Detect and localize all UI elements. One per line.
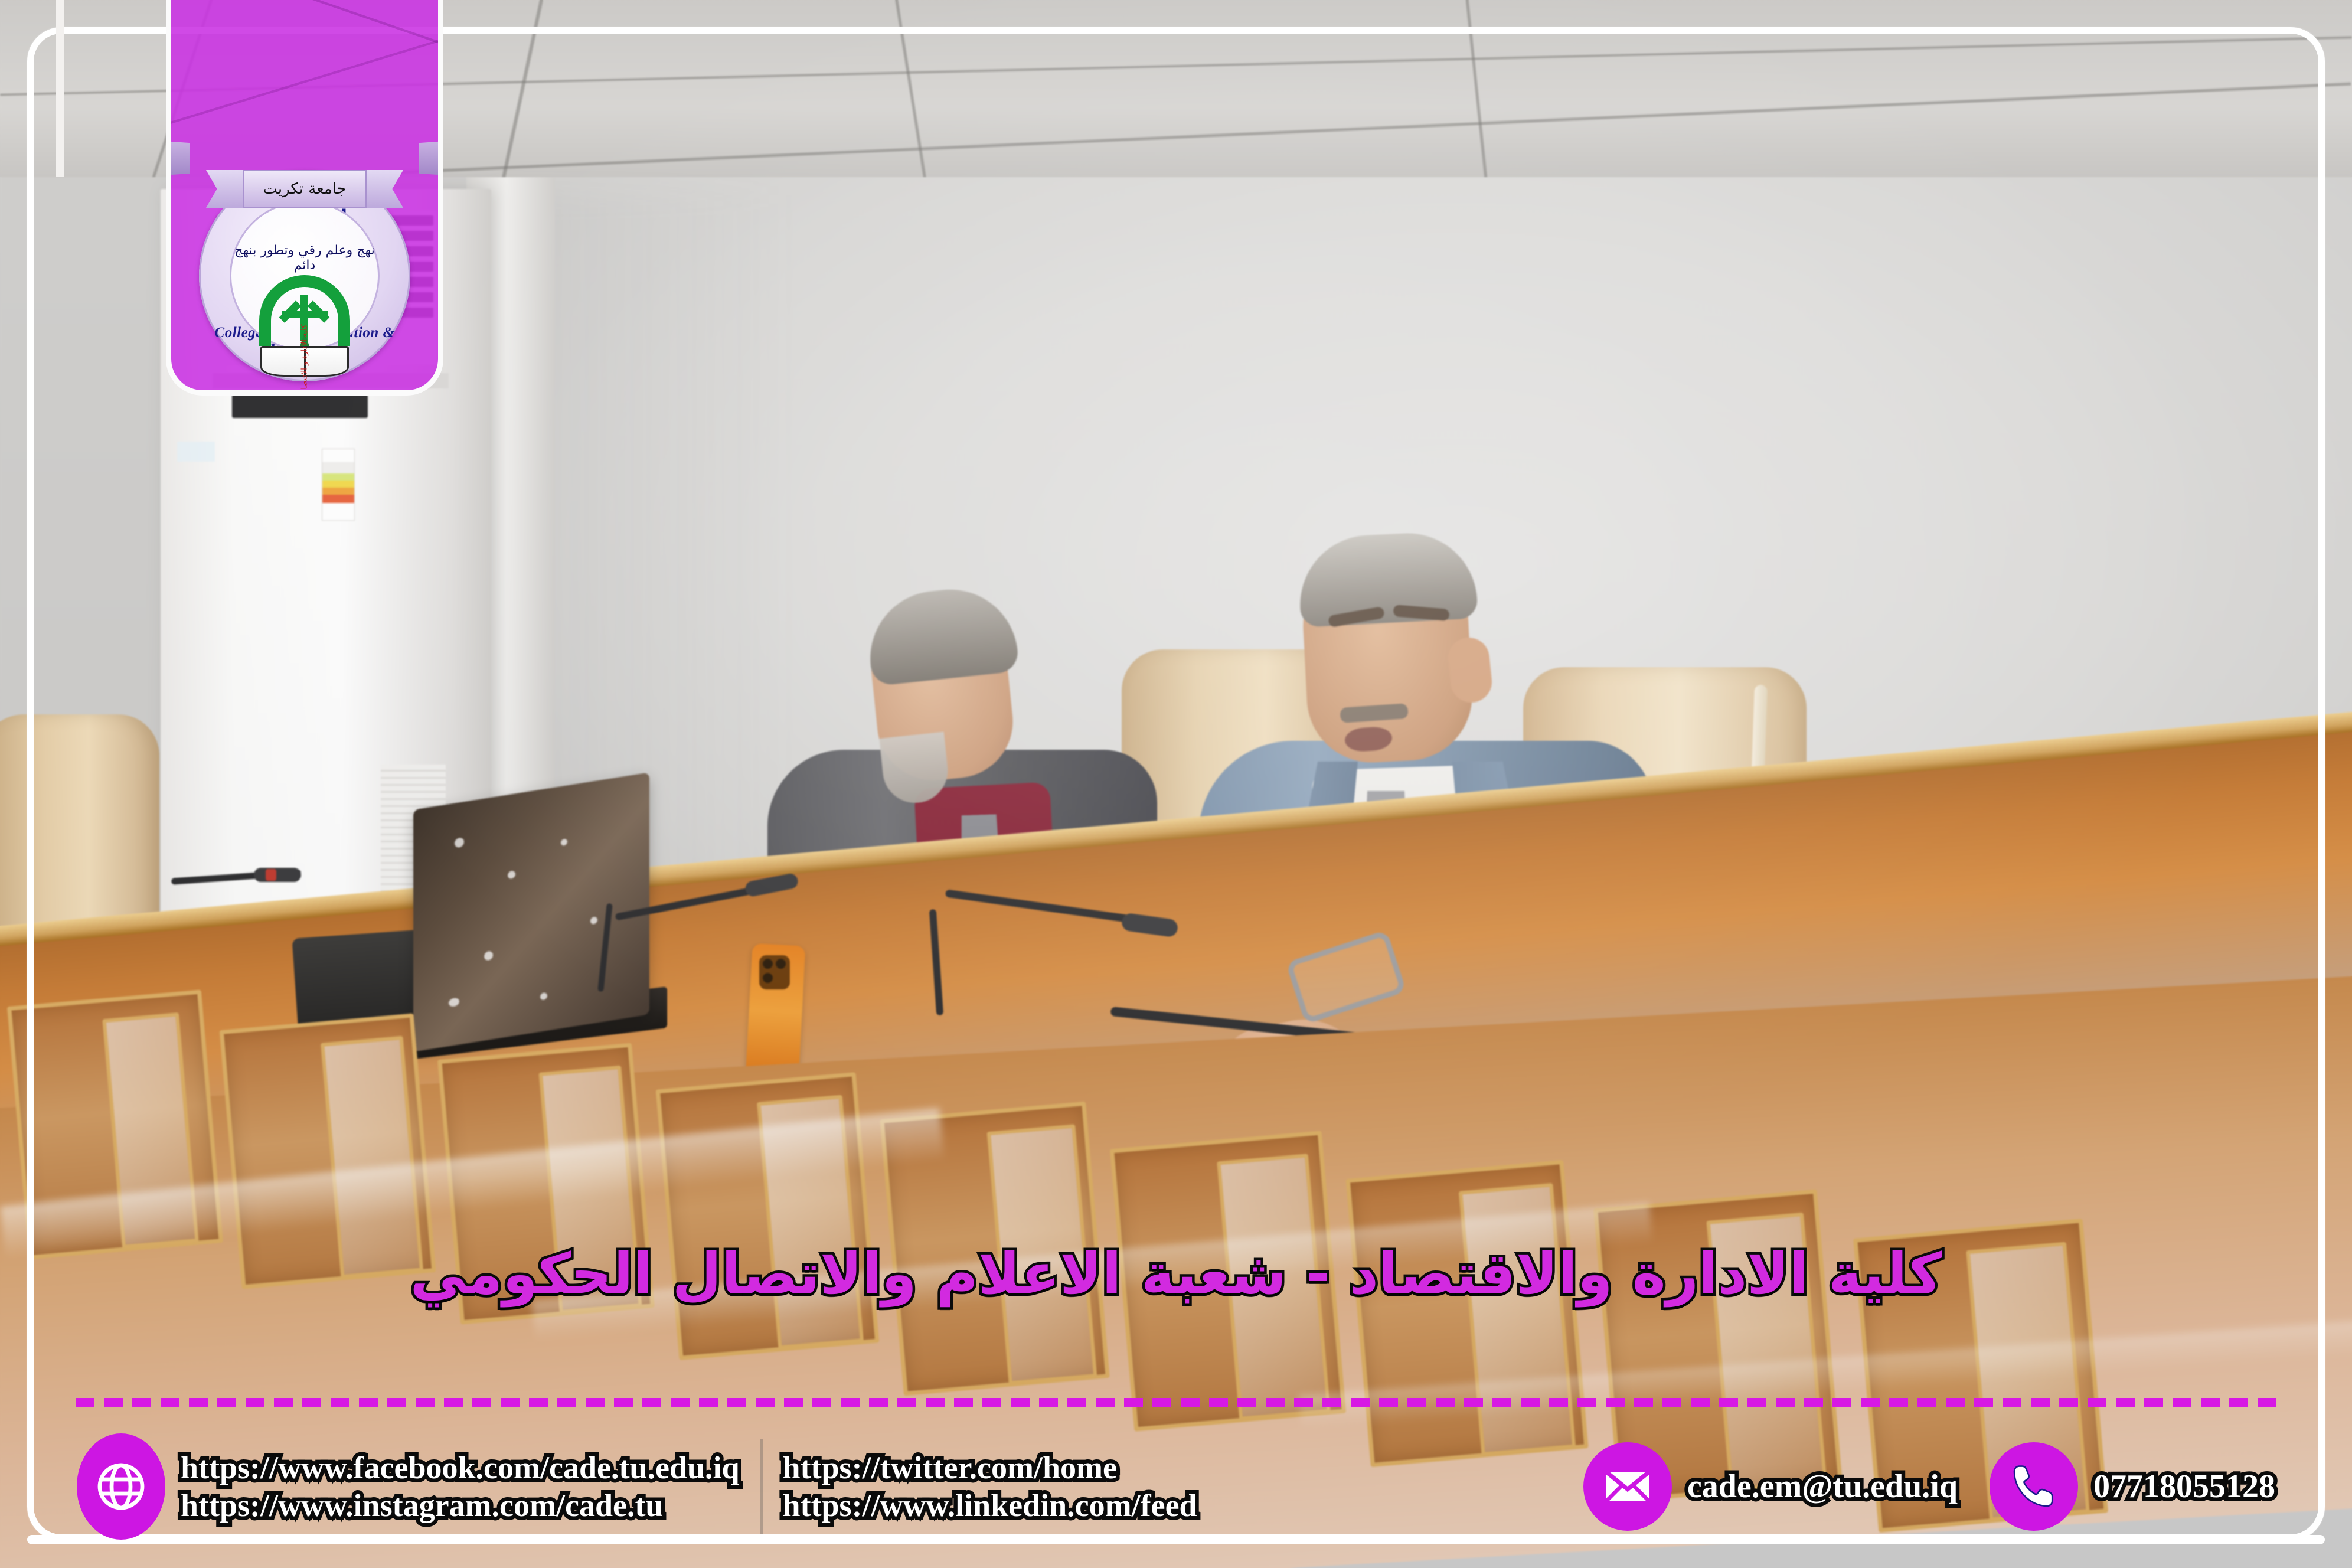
seal-ribbon-right bbox=[419, 137, 443, 179]
energy-rating-label bbox=[322, 449, 355, 521]
instagram-url[interactable]: https://www.instagram.com/cade.tu bbox=[181, 1488, 740, 1523]
phone-number[interactable]: 07718055128 bbox=[2093, 1469, 2275, 1504]
contact-lines-email: cade.em@tu.edu.iq bbox=[1687, 1469, 1958, 1504]
divider-dashed bbox=[76, 1398, 2276, 1407]
contact-group-email: cade.em@tu.edu.iq bbox=[1583, 1442, 1958, 1531]
air-conditioner-display bbox=[232, 394, 368, 418]
twitter-url[interactable]: https://twitter.com/home bbox=[783, 1451, 1197, 1485]
poster-root: كلية الادارة و الاقتصاد College of Admin… bbox=[0, 0, 2352, 1568]
poster-frame-left-accent bbox=[56, 0, 64, 177]
seal-emblem-red-text: كلية الادارة و الاقتصاد bbox=[300, 325, 309, 393]
poster-title-row: كلية الادارة والاقتصاد - شعبة الاعلام وا… bbox=[0, 1240, 2352, 1309]
university-name-ribbon: جامعة تكريت bbox=[243, 170, 367, 208]
seal-inner-disc: نهج وعلم رقي وتطور بنهج دائم كلية الادار… bbox=[230, 201, 380, 351]
logo-banner: كلية الادارة و الاقتصاد College of Admin… bbox=[166, 0, 443, 396]
linkedin-url[interactable]: https://www.linkedin.com/feed bbox=[783, 1488, 1197, 1523]
envelope-icon bbox=[1583, 1442, 1672, 1531]
contact-lines-phone: 07718055128 bbox=[2093, 1469, 2275, 1504]
contact-group-twitter-linkedin: https://twitter.com/home https://www.lin… bbox=[783, 1451, 1197, 1523]
phone-camera-module bbox=[759, 955, 790, 989]
globe-icon bbox=[77, 1433, 165, 1540]
seal-inner-arabic-text: نهج وعلم رقي وتطور بنهج دائم bbox=[230, 243, 380, 273]
facebook-url[interactable]: https://www.facebook.com/cade.tu.edu.iq bbox=[181, 1451, 740, 1485]
contact-lines-social-web: https://www.facebook.com/cade.tu.edu.iq … bbox=[181, 1451, 740, 1523]
contact-group-phone: 07718055128 bbox=[1990, 1442, 2275, 1531]
seal-emblem: كلية الادارة و الاقتصاد bbox=[254, 270, 355, 359]
contact-group-social-web: https://www.facebook.com/cade.tu.edu.iq … bbox=[77, 1433, 740, 1540]
laptop-screen bbox=[413, 772, 649, 1051]
email-address[interactable]: cade.em@tu.edu.iq bbox=[1687, 1469, 1958, 1504]
microphone-indicator bbox=[266, 869, 276, 881]
phone-icon bbox=[1990, 1442, 2078, 1531]
microphone-head bbox=[254, 868, 301, 882]
seal-ribbon-left bbox=[166, 137, 190, 179]
contact-lines-twitter-linkedin: https://twitter.com/home https://www.lin… bbox=[783, 1451, 1197, 1523]
contact-divider bbox=[760, 1439, 763, 1534]
contact-bar: https://www.facebook.com/cade.tu.edu.iq … bbox=[77, 1427, 2275, 1546]
air-conditioner-sticker bbox=[177, 442, 215, 462]
page-title: كلية الادارة والاقتصاد - شعبة الاعلام وا… bbox=[410, 1240, 1942, 1309]
